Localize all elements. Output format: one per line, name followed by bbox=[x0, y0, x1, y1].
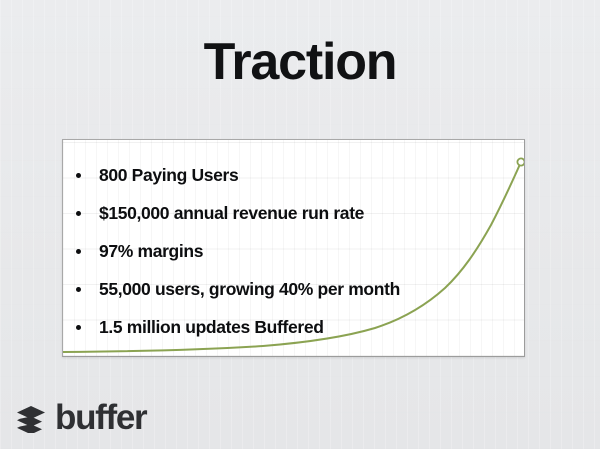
content-chart-panel: 800 Paying Users $150,000 annual revenue… bbox=[62, 139, 525, 357]
slide: Traction 800 Paying Users $150,000 annua… bbox=[0, 0, 600, 449]
list-item-label: 55,000 users, growing 40% per month bbox=[99, 279, 400, 299]
list-item: 55,000 users, growing 40% per month bbox=[63, 270, 525, 308]
list-item-label: 800 Paying Users bbox=[99, 165, 238, 185]
list-item-label: 97% margins bbox=[99, 241, 203, 261]
list-item: 97% margins bbox=[63, 232, 525, 270]
bullet-dot-icon bbox=[76, 287, 81, 292]
bullet-dot-icon bbox=[76, 173, 81, 178]
bullet-dot-icon bbox=[76, 211, 81, 216]
list-item: $150,000 annual revenue run rate bbox=[63, 194, 525, 232]
list-item: 1.5 million updates Buffered bbox=[63, 308, 525, 346]
stacked-layers-icon bbox=[16, 403, 46, 433]
list-item-label: $150,000 annual revenue run rate bbox=[99, 203, 364, 223]
list-item: 800 Paying Users bbox=[63, 156, 525, 194]
bullet-dot-icon bbox=[76, 325, 81, 330]
buffer-logo: buffer bbox=[16, 400, 146, 435]
buffer-wordmark: buffer bbox=[55, 400, 146, 435]
page-title: Traction bbox=[0, 36, 600, 88]
list-item-label: 1.5 million updates Buffered bbox=[99, 317, 324, 337]
bullet-dot-icon bbox=[76, 249, 81, 254]
bullet-list: 800 Paying Users $150,000 annual revenue… bbox=[63, 140, 525, 346]
